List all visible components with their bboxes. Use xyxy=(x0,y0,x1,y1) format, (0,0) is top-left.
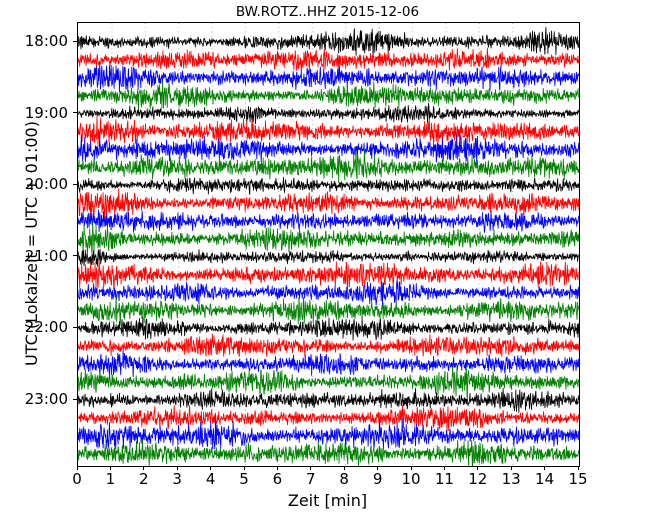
x-tick-label: 15 xyxy=(568,470,587,488)
y-tick-mark xyxy=(73,112,77,113)
x-tick-label: 11 xyxy=(435,470,454,488)
y-tick-mark xyxy=(73,41,77,42)
y-tick-mark xyxy=(73,327,77,328)
seismogram-traces xyxy=(78,23,579,466)
seismogram-trace xyxy=(78,317,579,340)
x-tick-label: 3 xyxy=(172,470,182,488)
seismogram-trace xyxy=(78,48,579,72)
x-tick-label: 9 xyxy=(373,470,383,488)
seismogram-trace xyxy=(78,281,579,306)
x-axis-tick-labels: 0123456789101112131415 xyxy=(0,470,650,492)
x-tick-label: 6 xyxy=(273,470,283,488)
x-tick-label: 14 xyxy=(535,470,554,488)
seismogram-trace xyxy=(78,405,579,431)
x-tick-label: 13 xyxy=(502,470,521,488)
page-title: BW.ROTZ..HHZ 2015-12-06 xyxy=(77,4,578,20)
seismogram-trace xyxy=(78,64,579,92)
x-tick-label: 7 xyxy=(306,470,316,488)
seismogram-trace xyxy=(78,27,579,56)
x-tick-label: 1 xyxy=(106,470,116,488)
x-tick-label: 12 xyxy=(468,470,487,488)
seismogram-trace xyxy=(78,116,579,146)
x-tick-label: 10 xyxy=(401,470,420,488)
x-tick-label: 4 xyxy=(206,470,216,488)
seismogram-trace xyxy=(78,388,579,412)
seismogram-trace xyxy=(78,350,579,378)
y-tick-mark xyxy=(73,184,77,185)
x-tick-label: 2 xyxy=(139,470,149,488)
y-tick-mark xyxy=(73,399,77,400)
seismogram-trace xyxy=(78,366,579,399)
seismogram-trace xyxy=(78,135,579,164)
x-axis-label: Zeit [min] xyxy=(77,491,578,510)
y-axis-label: UTC (Lokalzeit = UTC + 01:00) xyxy=(22,22,44,465)
x-tick-label: 8 xyxy=(339,470,349,488)
plot-axes-frame xyxy=(77,22,580,467)
y-tick-mark xyxy=(73,255,77,256)
plot-area xyxy=(78,23,579,466)
seismogram-trace xyxy=(78,334,579,357)
seismogram-trace xyxy=(78,177,579,194)
seismogram-trace xyxy=(78,418,579,449)
seismogram-trace xyxy=(78,210,579,232)
seismogram-figure: BW.ROTZ..HHZ 2015-12-06 18:0019:0020:002… xyxy=(0,0,650,520)
seismogram-trace xyxy=(78,249,579,266)
seismogram-trace xyxy=(78,440,579,466)
seismogram-trace xyxy=(78,103,579,123)
x-tick-label: 5 xyxy=(239,470,249,488)
seismogram-trace xyxy=(78,189,579,221)
x-tick-label: 0 xyxy=(72,470,82,488)
